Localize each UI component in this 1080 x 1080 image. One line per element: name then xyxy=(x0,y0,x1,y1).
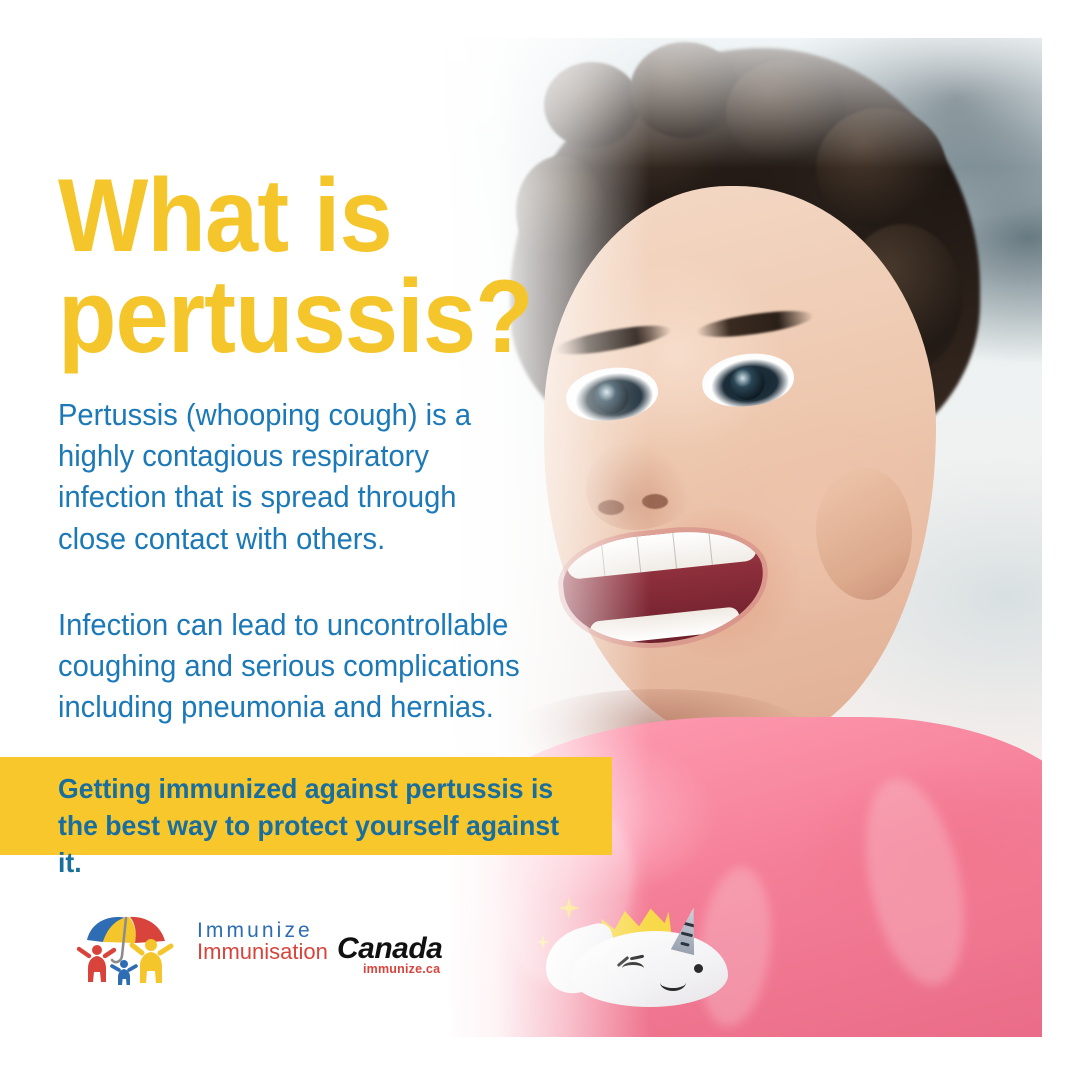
horn-stripe xyxy=(681,931,693,937)
call-to-action-banner: Getting immunized against pertussis is t… xyxy=(0,757,612,855)
umbrella-and-people-icon xyxy=(75,912,193,986)
logo-canada-text: Canada xyxy=(337,932,442,966)
intro-paragraph: Pertussis (whooping cough) is a highly c… xyxy=(58,394,528,559)
page-title: What is pertussis? xyxy=(58,166,573,368)
call-to-action-text: Getting immunized against pertussis is t… xyxy=(58,771,576,882)
unicorn-nostril xyxy=(694,964,703,973)
shirt-fold xyxy=(849,770,981,994)
horn-stripe xyxy=(680,942,689,947)
complications-paragraph: Infection can lead to uncontrollable cou… xyxy=(58,604,528,728)
immunize-canada-logo[interactable]: Immunize Immunisation Canada immunize.ca xyxy=(75,912,365,988)
unicorn-smile xyxy=(660,974,686,991)
photo-top-fade xyxy=(330,38,1042,168)
logo-website-text: immunize.ca xyxy=(363,962,440,976)
poster-canvas: What is pertussis? Pertussis (whooping c… xyxy=(0,0,1080,1080)
